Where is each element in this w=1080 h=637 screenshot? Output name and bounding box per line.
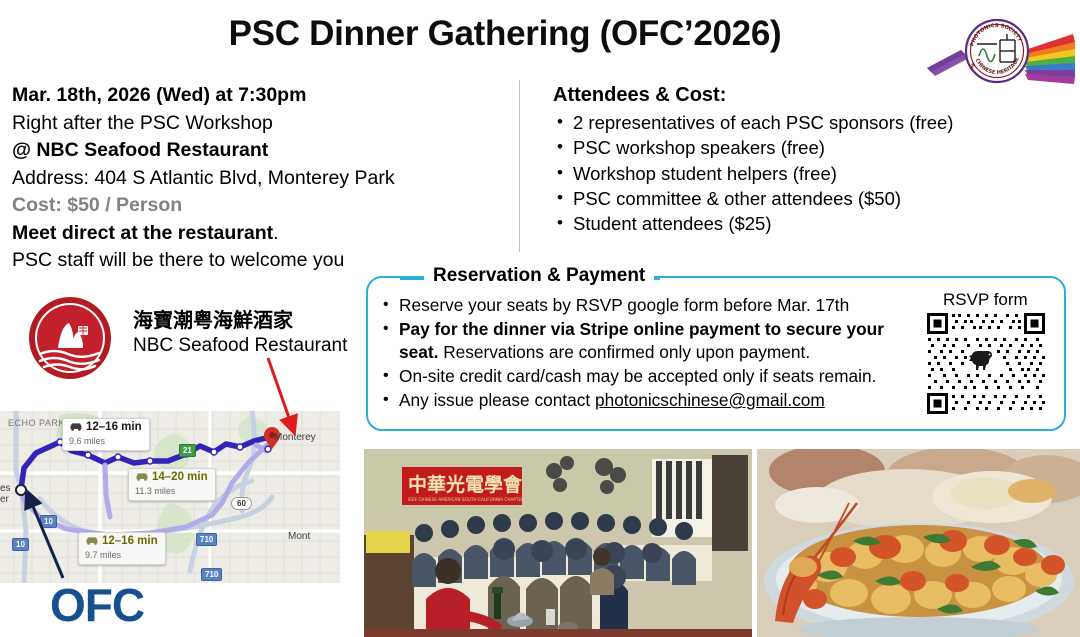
car-icon <box>85 536 99 550</box>
route-time: 12–16 min <box>85 535 158 550</box>
page-title: PSC Dinner Gathering (OFC’2026) <box>0 14 1010 54</box>
route-option-1[interactable]: 12–16 min 9.6 miles <box>62 418 150 451</box>
route-distance: 9.7 miles <box>85 550 158 561</box>
rsvp-qr-code[interactable] <box>925 311 1047 416</box>
restaurant-name-block: 海寶潮粤海鮮酒家 NBC Seafood Restaurant <box>133 307 347 358</box>
event-meet-rest: . <box>273 222 278 244</box>
reservation-title: Reservation & Payment <box>424 265 654 287</box>
map-label-mont: Mont <box>288 531 310 542</box>
reservation-list: Reserve your seats by RSVP google form b… <box>380 294 925 412</box>
attendees-block: Attendees & Cost: 2 representatives of e… <box>553 84 1023 236</box>
group-dinner-photo: 中華光電學會 IEEE CHINESE-AMERICAN SOUTH CALIF… <box>364 449 752 637</box>
column-divider <box>519 80 520 252</box>
freeway-shield-60: 60 <box>231 497 252 510</box>
list-item: Workshop student helpers (free) <box>553 161 1023 186</box>
nbc-seafood-logo <box>28 296 112 380</box>
route-time-text: 12–16 min <box>86 421 142 433</box>
list-item: Student attendees ($25) <box>553 211 1023 236</box>
event-address: Address: 404 S Atlantic Blvd, Monterey P… <box>12 165 512 193</box>
attendees-heading: Attendees & Cost: <box>553 84 1023 107</box>
list-item: 2 representatives of each PSC sponsors (… <box>553 110 1023 135</box>
event-meet-instruction: Meet direct at the restaurant. <box>12 220 512 248</box>
svg-text:IEEE CHINESE-AMERICAN SOUTH CA: IEEE CHINESE-AMERICAN SOUTH CALIFORNIA C… <box>408 497 524 502</box>
contact-email-link[interactable]: photonicschinese@gmail.com <box>595 390 825 410</box>
map-label-monterey: Monterey <box>274 432 316 443</box>
restaurant-name-chinese: 海寶潮粤海鮮酒家 <box>133 307 347 333</box>
route-option-2[interactable]: 14–20 min 11.3 miles <box>128 468 216 501</box>
route-distance: 11.3 miles <box>135 486 208 497</box>
psc-society-logo: PHOTONICS SOCIETY CHINESE HERITAGE OF <box>925 4 1075 96</box>
list-item: Reserve your seats by RSVP google form b… <box>380 294 925 317</box>
poster-slide: PSC Dinner Gathering (OFC’2026) <box>0 0 1080 637</box>
map-label-es: es <box>0 483 11 494</box>
event-cost: Cost: $50 / Person <box>12 192 512 220</box>
attendees-list: 2 representatives of each PSC sponsors (… <box>553 110 1023 236</box>
reservation-body: Reserve your seats by RSVP google form b… <box>380 294 925 413</box>
dino-icon <box>968 348 996 372</box>
route-time: 12–16 min <box>69 421 142 436</box>
reservation-rule-left <box>400 277 426 280</box>
freeway-shield-10b: 10 <box>12 538 29 551</box>
list-item: Any issue please contact photonicschines… <box>380 389 925 412</box>
seafood-dish-photo <box>757 449 1080 637</box>
reservation-contact-prefix: Any issue please contact <box>399 390 595 410</box>
car-icon <box>69 422 83 436</box>
event-note-workshop: Right after the PSC Workshop <box>12 110 512 138</box>
event-datetime: Mar. 18th, 2026 (Wed) at 7:30pm <box>12 82 512 110</box>
restaurant-name-english: NBC Seafood Restaurant <box>133 333 347 358</box>
event-info-block: Mar. 18th, 2026 (Wed) at 7:30pm Right af… <box>12 82 512 275</box>
reservation-stripe-rest: Reservations are confirmed only upon pay… <box>438 342 810 362</box>
route-time-text: 12–16 min <box>102 535 158 547</box>
qr-label: RSVP form <box>943 290 1028 310</box>
ofc-logo: OFC <box>50 582 144 628</box>
route-time: 14–20 min <box>135 471 208 486</box>
car-icon <box>135 472 149 486</box>
svg-text:中華光電學會: 中華光電學會 <box>408 473 523 496</box>
route-option-3[interactable]: 12–16 min 9.7 miles <box>78 532 166 565</box>
list-item: On-site credit card/cash may be accepted… <box>380 365 925 388</box>
freeway-shield-21: 21 <box>179 444 196 457</box>
freeway-shield-710b: 710 <box>201 568 222 581</box>
route-time-text: 14–20 min <box>152 471 208 483</box>
list-item: Pay for the dinner via Stripe online pay… <box>380 318 925 364</box>
event-venue: @ NBC Seafood Restaurant <box>12 137 512 165</box>
map-label-echo-park: ECHO PARK <box>8 418 65 428</box>
freeway-shield-10: 10 <box>40 515 57 528</box>
list-item: PSC workshop speakers (free) <box>553 135 1023 160</box>
event-meet-bold: Meet direct at the restaurant <box>12 222 273 244</box>
route-distance: 9.6 miles <box>69 436 142 447</box>
map-label-er: er <box>0 494 9 505</box>
list-item: PSC committee & other attendees ($50) <box>553 186 1023 211</box>
freeway-shield-710: 710 <box>196 533 217 546</box>
